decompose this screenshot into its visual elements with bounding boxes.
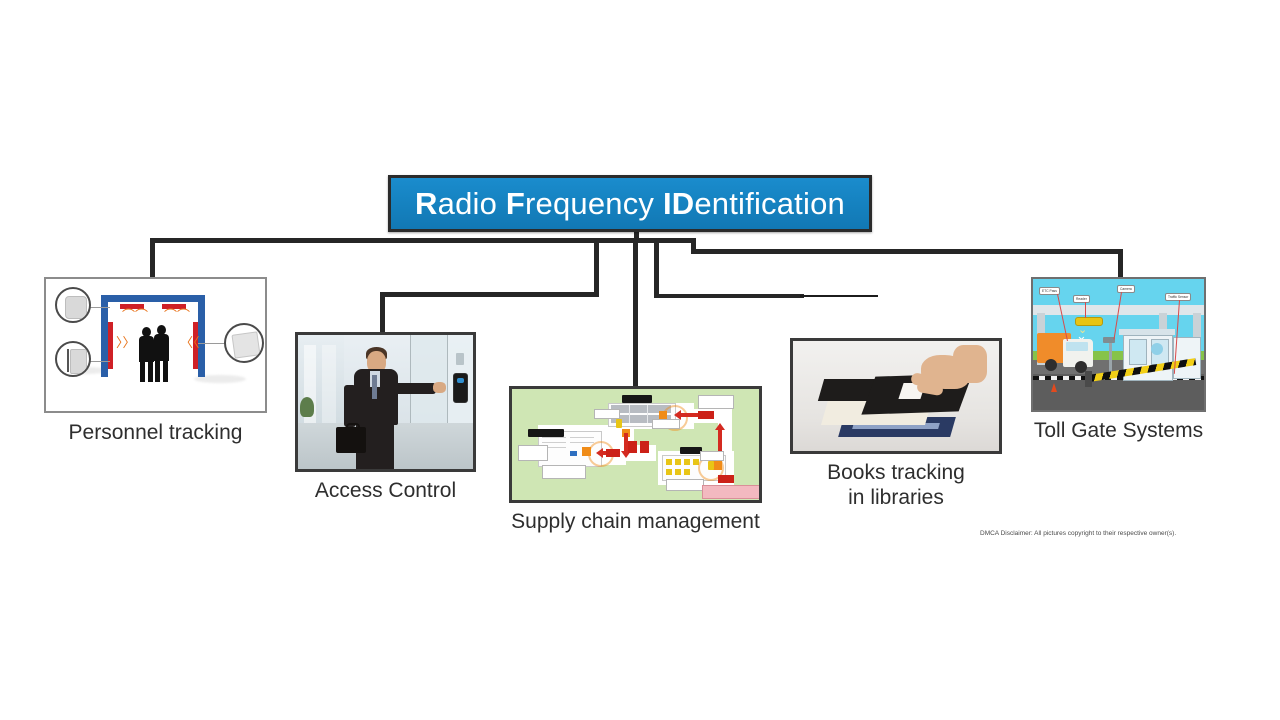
pallet-icon <box>684 459 690 465</box>
title-tail: entification <box>694 186 845 221</box>
truck-windshield <box>1066 342 1088 351</box>
connector-drop-books-vert <box>654 238 659 298</box>
caption-line-2: in libraries <box>750 485 1042 510</box>
flow-arrow-head <box>715 423 725 430</box>
callout-box <box>594 409 620 419</box>
pallet-icon <box>666 459 672 465</box>
label-reader: Reader <box>1073 295 1090 303</box>
node-access-control[interactable]: Access Control <box>295 332 476 472</box>
truck-wheel <box>1045 359 1057 371</box>
caption-line-1: Books tracking <box>750 460 1042 485</box>
rf-wave-icon: ⌒⌒ <box>122 310 148 323</box>
callout-box <box>518 445 548 461</box>
title-bold-id: ID <box>663 186 694 221</box>
node-personnel-tracking[interactable]: ⌒⌒ ⌒⌒ 〉〉 〈〈 <box>44 277 267 413</box>
node-books-tracking[interactable]: Books tracking in libraries <box>790 338 1002 454</box>
forklift-icon <box>616 419 622 428</box>
glass-pane <box>322 345 336 427</box>
label-box <box>622 395 652 403</box>
person-arm <box>344 385 356 427</box>
person-hand <box>433 382 446 393</box>
callout-leader <box>88 361 110 362</box>
callout-tag-badge <box>55 341 91 377</box>
door-handle-icon <box>456 353 464 365</box>
truck-icon <box>628 441 637 453</box>
reader-led-icon <box>457 378 464 383</box>
personnel-tracking-image: ⌒⌒ ⌒⌒ 〉〉 〈〈 <box>44 277 267 413</box>
person-torso <box>139 336 154 362</box>
connector-drop-toll <box>1118 249 1123 277</box>
callout-tag-card <box>55 287 91 323</box>
tag-card-icon <box>65 296 87 319</box>
node-toll-gate-systems[interactable]: ⌄ ⌄ ⌄ ETC Pass R <box>1031 277 1206 412</box>
slide-canvas: Radio Frequency IDentification ⌒⌒ ⌒⌒ 〉〉 … <box>0 0 1280 720</box>
title-bold-f: F <box>506 186 525 221</box>
dmca-disclaimer: DMCA Disclaimer: All pictures copyright … <box>980 529 1230 538</box>
connector-drop-access-vert <box>594 238 599 296</box>
title-mid-1: adio <box>438 186 506 221</box>
callout-box <box>698 395 734 409</box>
callout-box <box>700 451 724 461</box>
toll-gate-image: ⌄ ⌄ ⌄ ETC Pass R <box>1031 277 1206 412</box>
connector-run-access-horiz <box>380 292 599 297</box>
title-bold-r: R <box>415 186 438 221</box>
detail-line <box>542 437 566 438</box>
callout-leader <box>88 307 110 308</box>
label-box <box>680 447 702 454</box>
caption-books-tracking: Books tracking in libraries <box>750 460 1042 510</box>
pallet-icon <box>675 469 681 475</box>
connector-run-books <box>654 294 804 298</box>
caption-personnel-tracking: Personnel tracking <box>4 420 307 445</box>
access-control-image <box>295 332 476 472</box>
connector-bus-left <box>150 238 696 243</box>
detail-line <box>542 442 566 443</box>
page-title: Radio Frequency IDentification <box>415 186 845 222</box>
diagram-title-box: Radio Frequency IDentification <box>388 175 872 232</box>
forklift-icon <box>708 461 714 470</box>
person-arm <box>394 383 436 394</box>
rf-wave-icon: 〈〈 <box>180 337 200 350</box>
node-supply-chain-management[interactable]: Supply chain management <box>509 386 762 503</box>
tag-label-icon <box>231 331 260 358</box>
caption-toll-gate-systems: Toll Gate Systems <box>991 418 1246 443</box>
detail-line <box>570 442 594 443</box>
connector-drop-supply-chain <box>633 238 638 386</box>
connector-drop-access <box>380 292 385 332</box>
shelf-divider <box>647 405 648 423</box>
tag-badge-icon <box>70 349 87 374</box>
truck-icon <box>606 449 620 457</box>
toll-booth-secondary <box>1173 337 1201 379</box>
label-camera: Camera <box>1117 285 1135 293</box>
detail-line <box>570 437 594 438</box>
person-leg <box>155 359 160 382</box>
plant-icon <box>300 397 314 417</box>
gate-header <box>101 295 205 302</box>
person-leg <box>148 360 153 382</box>
connector-drop-personnel <box>150 238 155 278</box>
callout-tag-label <box>224 323 264 363</box>
callout-box <box>666 479 704 491</box>
callout-box <box>542 465 586 479</box>
label-box <box>528 429 564 437</box>
briefcase-handle-icon <box>346 423 360 431</box>
pallet-icon <box>675 459 681 465</box>
card-reader <box>453 373 468 403</box>
connector-run-books-thin <box>800 295 878 297</box>
wrist <box>953 345 987 383</box>
person-tie <box>372 375 377 399</box>
barrier-post <box>1085 371 1092 387</box>
supply-chain-image <box>509 386 762 503</box>
shelf-divider <box>629 405 630 423</box>
truck-icon <box>640 441 649 453</box>
badge-clip-icon <box>67 349 69 372</box>
caption-access-control: Access Control <box>255 478 516 503</box>
rf-wave-icon: 〉〉 <box>116 337 136 350</box>
connector-run-toll <box>691 249 1123 254</box>
caption-supply-chain-management: Supply chain management <box>469 509 802 534</box>
booth-window <box>1129 339 1147 365</box>
pallet-icon <box>666 469 672 475</box>
callout-box <box>652 419 680 429</box>
flow-arrow <box>680 413 700 417</box>
truck-icon <box>698 411 714 419</box>
truck-icon <box>718 475 734 483</box>
rf-wave-icon: ⌒⌒ <box>164 310 190 323</box>
person-torso <box>154 334 169 361</box>
person-leg <box>163 359 168 382</box>
person-leg <box>140 360 145 382</box>
title-mid-2: requency <box>525 186 663 221</box>
flow-arrow <box>718 429 722 453</box>
books-tracking-image <box>790 338 1002 454</box>
leader-line <box>1085 302 1086 318</box>
flow-arrow-head <box>596 448 603 458</box>
pallet-icon <box>684 469 690 475</box>
booth-operator <box>1151 343 1163 355</box>
highlight-cell <box>570 451 577 456</box>
